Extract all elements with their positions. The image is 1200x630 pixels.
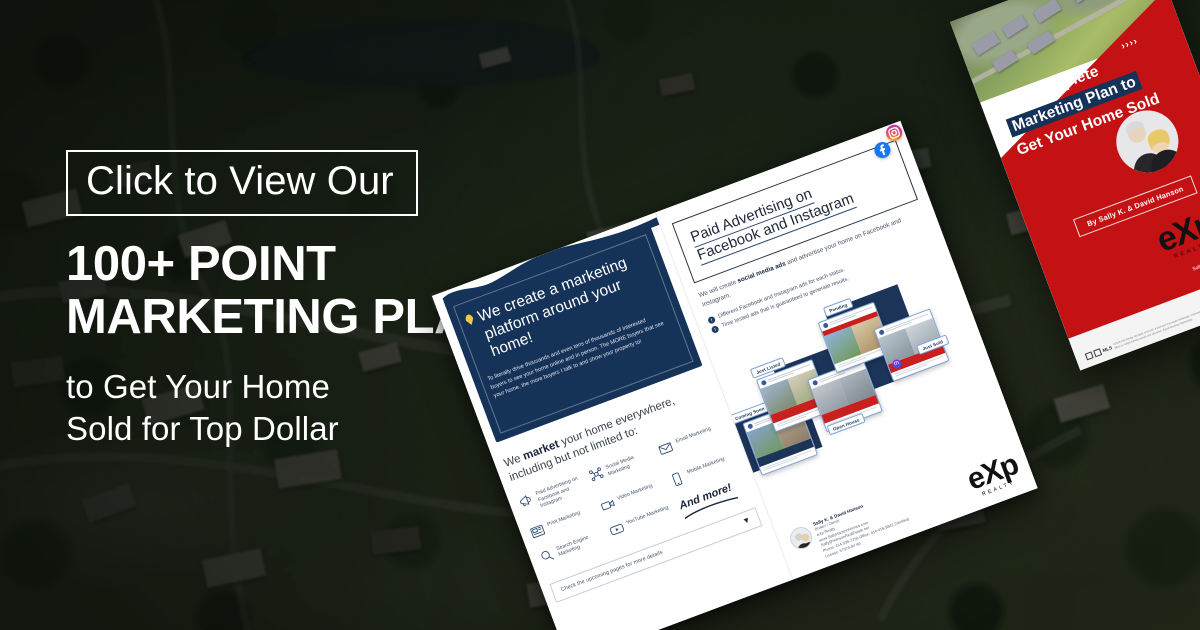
avatar xyxy=(879,329,885,335)
avatar xyxy=(812,380,818,386)
facebook-bullet-icon: f xyxy=(711,325,720,334)
exp-realty-logo: eXp REALTY xyxy=(963,450,1024,504)
click-to-view-button[interactable]: Click to View Our xyxy=(66,150,418,216)
avatar xyxy=(761,380,767,386)
avatar xyxy=(747,423,753,429)
caret-down-icon: ▼ xyxy=(741,516,751,526)
channel-label: Video Marketing xyxy=(616,481,654,502)
channel-label: Print Marketing xyxy=(546,508,582,528)
click-to-view-label: Click to View Our xyxy=(86,159,394,203)
channel-label: Mobile Marketing xyxy=(686,454,726,476)
magnifier-icon xyxy=(537,546,556,565)
share-nodes-icon xyxy=(586,465,605,484)
social-ad-collage: Coming Soon Just Listed Open House xyxy=(716,258,996,492)
envelope-icon xyxy=(656,439,675,458)
channel-label: Search Engine Marketing xyxy=(555,526,609,558)
youtube-play-icon xyxy=(607,520,626,539)
channel-label: Paid Advertising on Facebook and Instagr… xyxy=(534,472,590,510)
video-camera-icon xyxy=(598,495,617,514)
avatar xyxy=(823,322,829,328)
channel-label: Social Media Marketing xyxy=(604,446,658,478)
newspaper-icon xyxy=(528,521,547,540)
mobile-phone-icon xyxy=(668,469,687,488)
facebook-bullet-icon: f xyxy=(707,315,716,324)
channel-label: YouTube Marketing xyxy=(625,503,670,527)
agent-avatar xyxy=(787,524,815,552)
megaphone-icon xyxy=(517,491,536,510)
channel-label: Email Marketing xyxy=(674,424,712,445)
